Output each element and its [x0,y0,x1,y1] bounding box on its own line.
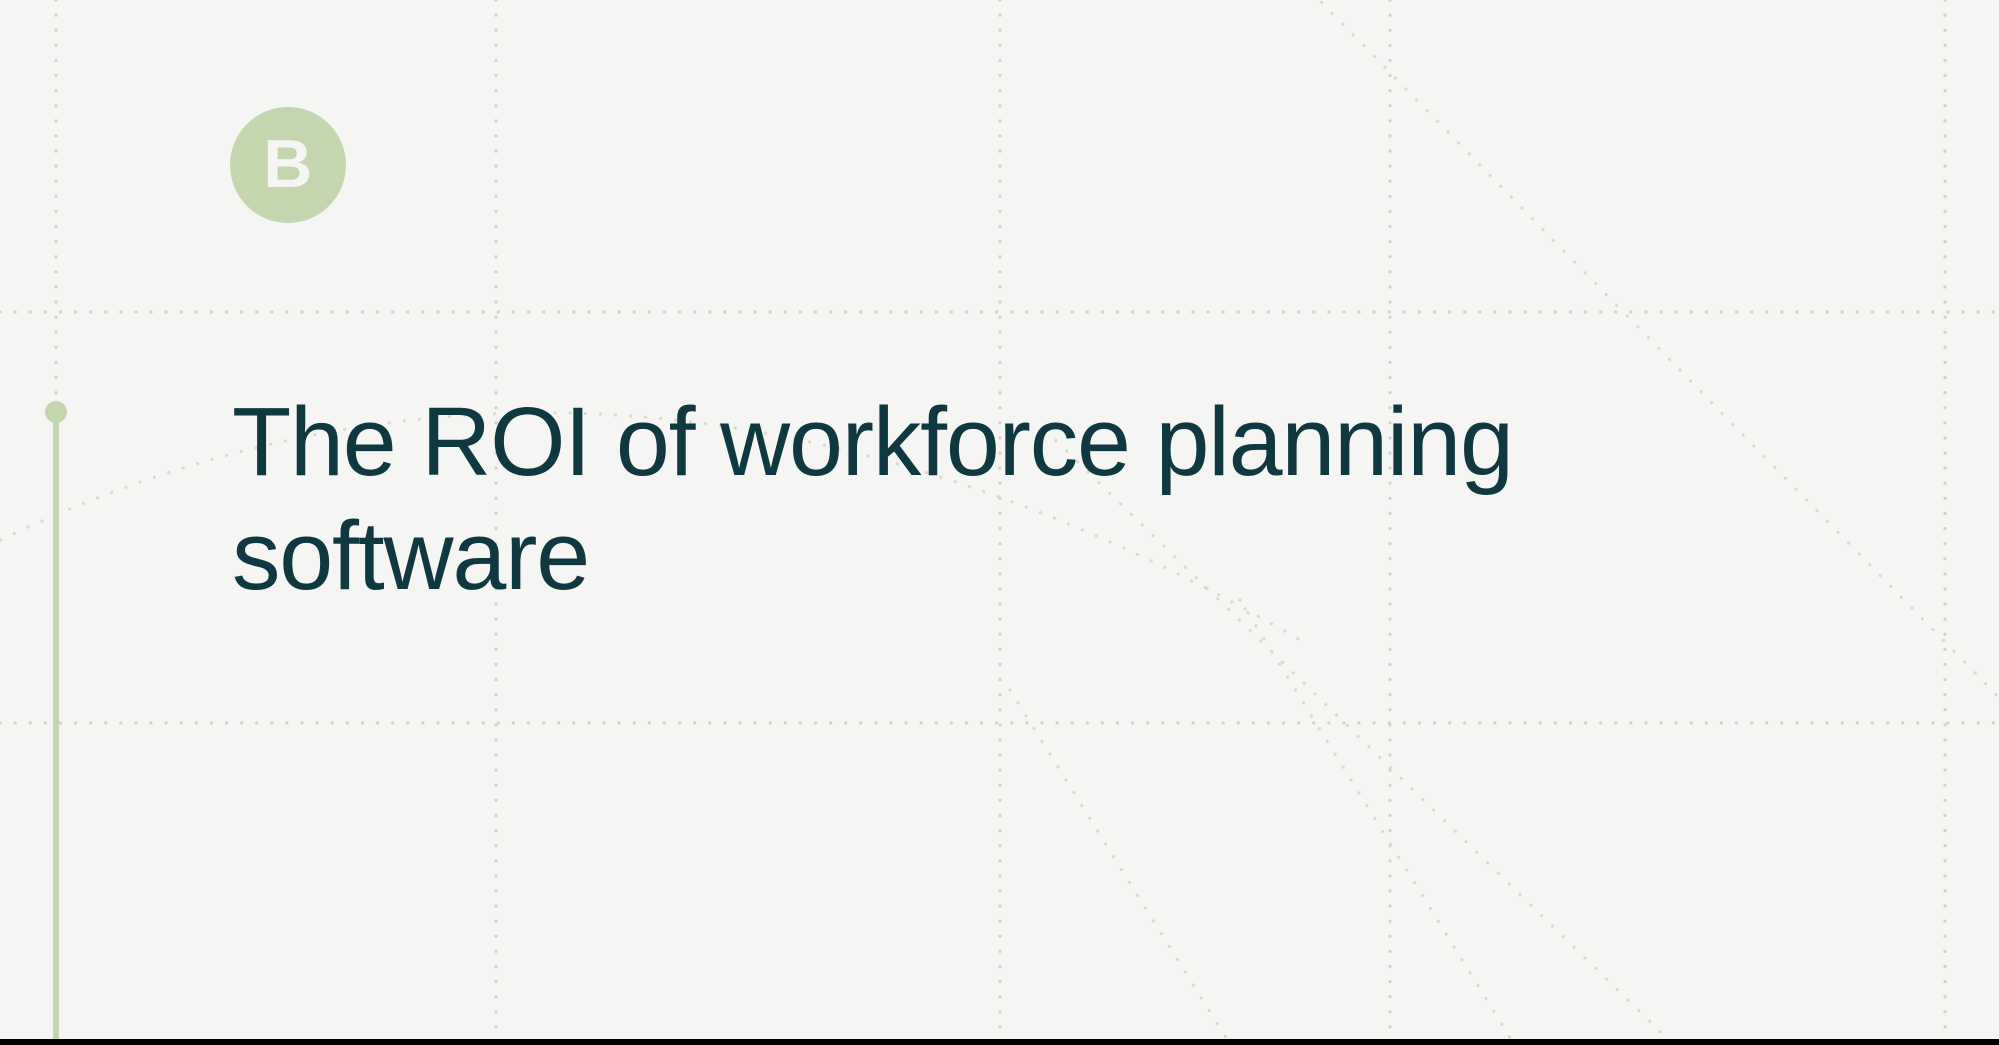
brand-logo: B [230,107,346,223]
page-title: The ROI of workforce planning software [232,385,1752,614]
bottom-bar [0,1039,1999,1045]
timeline-line [53,412,59,1045]
accent-rail [0,0,120,1045]
slide-canvas: .gdot { stroke: #d2d2cd; stroke-width: 3… [0,0,1999,1045]
timeline-dot [45,401,67,423]
brand-logo-letter: B [263,130,313,198]
